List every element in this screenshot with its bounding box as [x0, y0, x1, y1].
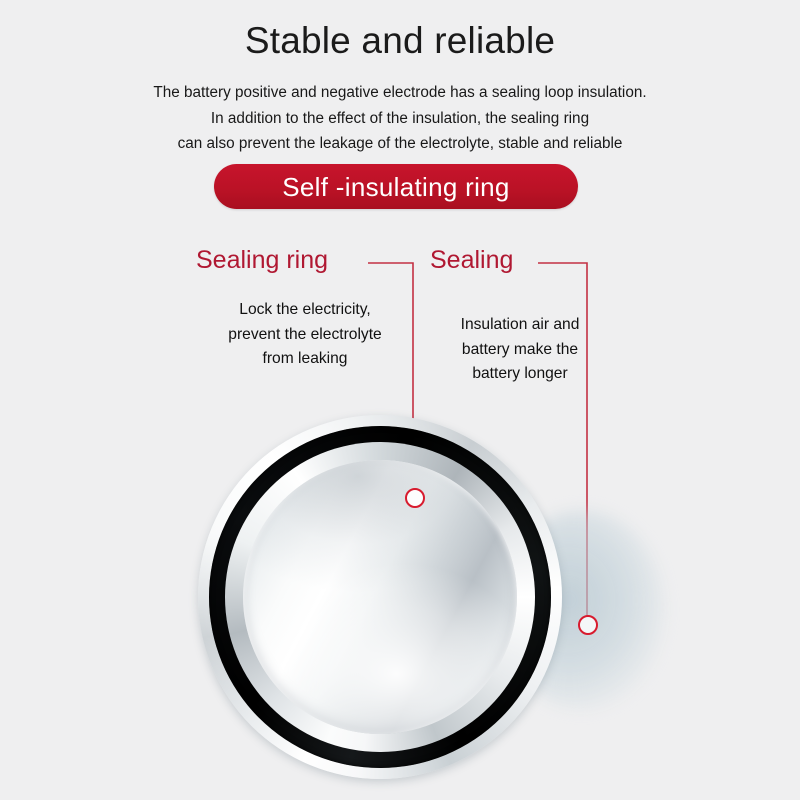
intro-line-2: In addition to the effect of the insulat…	[0, 106, 800, 132]
intro-line-1: The battery positive and negative electr…	[0, 80, 800, 106]
callout-title-sealing-ring: Sealing ring	[196, 245, 328, 275]
callout-1-line-1: Lock the electricity,	[190, 298, 420, 323]
intro-paragraph: The battery positive and negative electr…	[0, 80, 800, 157]
callout-2-line-3: battery longer	[424, 362, 616, 387]
callout-description-sealing: Insulation air and battery make the batt…	[424, 313, 616, 387]
self-insulating-ring-badge: Self -insulating ring	[214, 164, 578, 209]
callout-description-sealing-ring: Lock the electricity, prevent the electr…	[190, 298, 420, 372]
page-title: Stable and reliable	[0, 18, 800, 64]
callout-2-line-1: Insulation air and	[424, 313, 616, 338]
sealing-ring-marker-icon	[405, 488, 425, 508]
callout-2-line-2: battery make the	[424, 338, 616, 363]
intro-line-3: can also prevent the leakage of the elec…	[0, 131, 800, 157]
callout-1-line-2: prevent the electrolyte	[190, 323, 420, 348]
badge-label: Self -insulating ring	[282, 172, 509, 202]
button-cell-battery	[198, 415, 562, 779]
sealing-marker-icon	[578, 615, 598, 635]
callout-1-line-3: from leaking	[190, 347, 420, 372]
callout-title-sealing: Sealing	[430, 245, 513, 275]
infographic-canvas: Stable and reliable The battery positive…	[0, 0, 800, 800]
dome-top-shading	[243, 460, 517, 734]
